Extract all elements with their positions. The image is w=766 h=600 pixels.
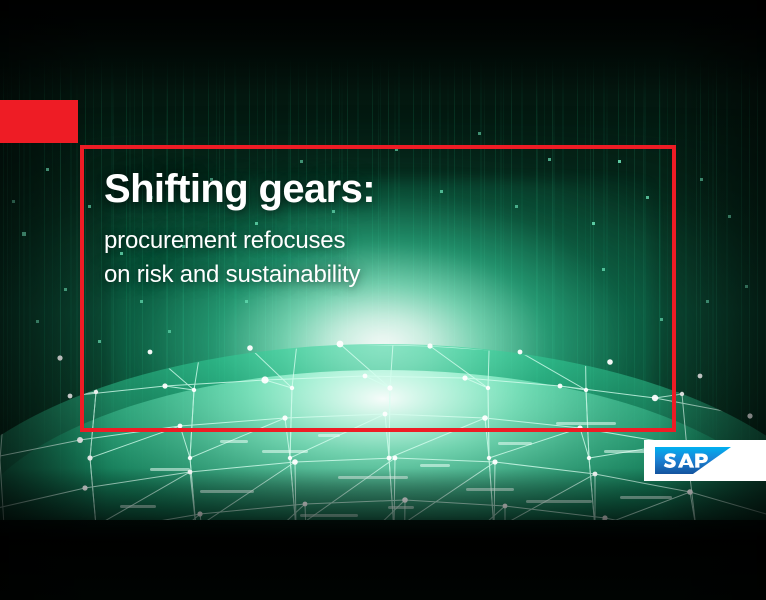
- title-block: Shifting gears: procurement refocuses on…: [104, 168, 584, 293]
- sap-logo: [655, 447, 731, 474]
- page-title: Shifting gears:: [104, 168, 584, 210]
- page-subtitle-line-2: on risk and sustainability: [104, 258, 584, 292]
- page-subtitle: procurement refocuses on risk and sustai…: [104, 224, 584, 292]
- page-subtitle-line-1: procurement refocuses: [104, 224, 584, 258]
- red-square-accent: [0, 100, 78, 143]
- brand-logo-container: [644, 440, 766, 481]
- report-cover: Shifting gears: procurement refocuses on…: [0, 0, 766, 600]
